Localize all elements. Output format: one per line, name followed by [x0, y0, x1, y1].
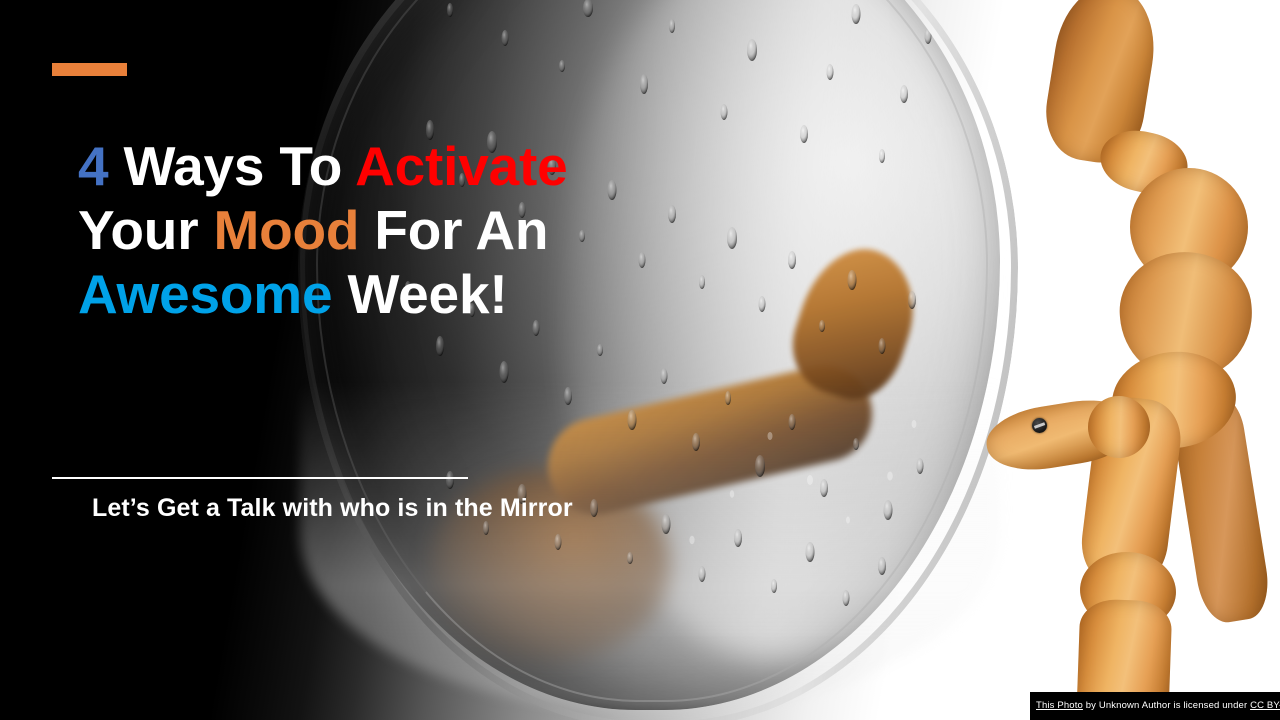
title-run: Mood	[213, 199, 359, 261]
slide-subtitle: Let’s Get a Talk with who is in the Mirr…	[92, 491, 573, 525]
title-run: 4	[78, 135, 108, 197]
title-run: For An	[359, 199, 548, 261]
attribution-middle-text: by Unknown Author is licensed under	[1083, 700, 1250, 711]
title-run: Ways To	[108, 135, 355, 197]
mannequin-joint-screw	[1032, 418, 1047, 433]
presentation-slide: 4 Ways To ActivateYour Mood For AnAwesom…	[0, 0, 1280, 720]
title-run: Activate	[355, 135, 567, 197]
page-title: 4 Ways To ActivateYour Mood For AnAwesom…	[78, 134, 738, 326]
background-photo	[0, 0, 1280, 720]
title-run: Awesome	[78, 263, 332, 325]
photo-attribution: This Photo by Unknown Author is licensed…	[1030, 692, 1280, 720]
accent-bar	[52, 63, 127, 76]
title-run: Your	[78, 199, 213, 261]
license-link[interactable]: CC BY-NC-ND	[1250, 700, 1280, 711]
this-photo-link[interactable]: This Photo	[1036, 700, 1083, 711]
wooden-mannequin	[980, 0, 1280, 720]
divider-line	[52, 477, 468, 479]
title-run: Week!	[332, 263, 507, 325]
